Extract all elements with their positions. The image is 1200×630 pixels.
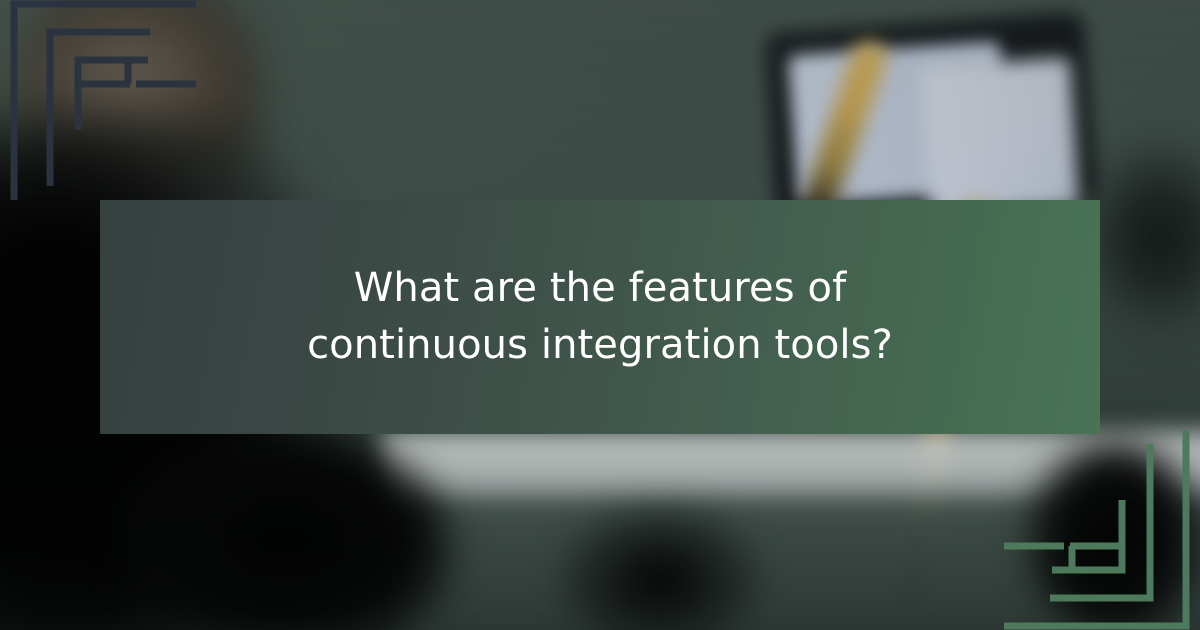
corner-bracket-top-left-icon <box>0 0 210 200</box>
corner-bracket-bottom-right-icon <box>990 430 1200 630</box>
question-text: What are the features of continuous inte… <box>280 260 920 374</box>
question-card-canvas: What are the features of continuous inte… <box>0 0 1200 630</box>
question-banner: What are the features of continuous inte… <box>100 200 1100 434</box>
